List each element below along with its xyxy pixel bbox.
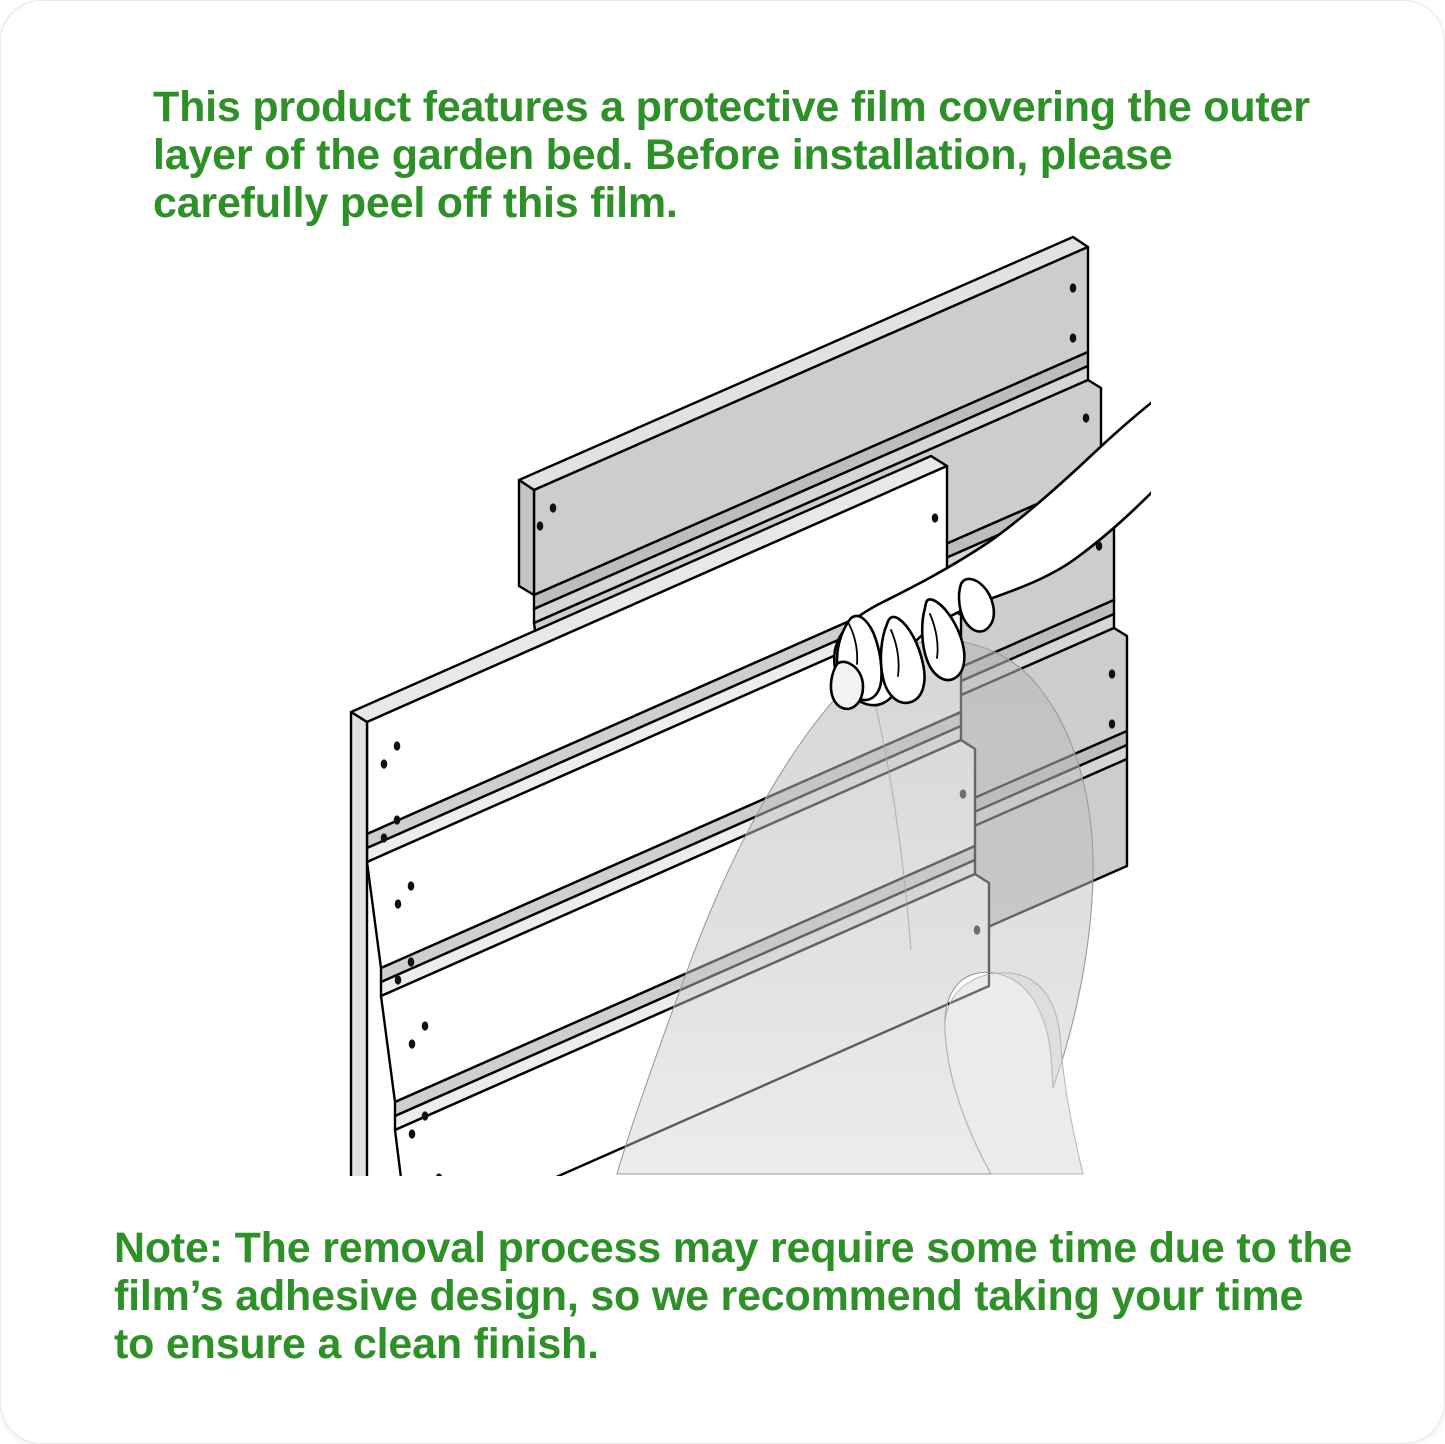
screw-hole	[395, 899, 402, 908]
screw-hole	[550, 503, 557, 512]
garden-bed-film-illustration	[331, 226, 1151, 1176]
screw-hole	[1083, 413, 1090, 422]
instruction-card: This product features a protective film …	[0, 0, 1445, 1444]
bottom-note-text: Note: The removal process may require so…	[114, 1224, 1354, 1368]
screw-hole	[1070, 283, 1077, 292]
screw-hole	[408, 957, 415, 966]
screw-hole	[408, 881, 415, 890]
screw-hole	[422, 1021, 429, 1030]
hand-thumb	[831, 662, 863, 709]
screw-hole	[409, 1039, 416, 1048]
screw-hole	[422, 1111, 429, 1120]
screw-hole	[1070, 333, 1077, 342]
screw-hole	[381, 759, 388, 768]
screw-hole	[1109, 719, 1116, 728]
panel-left-flange	[519, 480, 534, 595]
front-panel-left-flange	[351, 712, 367, 1176]
screw-hole	[409, 1129, 416, 1138]
screw-hole	[537, 521, 544, 530]
top-instruction-text: This product features a protective film …	[153, 83, 1313, 227]
screw-hole	[394, 815, 401, 824]
screw-hole	[394, 741, 401, 750]
screw-hole	[1109, 669, 1116, 678]
screw-hole	[932, 513, 939, 522]
screw-hole	[381, 833, 388, 842]
screw-hole	[395, 975, 402, 984]
